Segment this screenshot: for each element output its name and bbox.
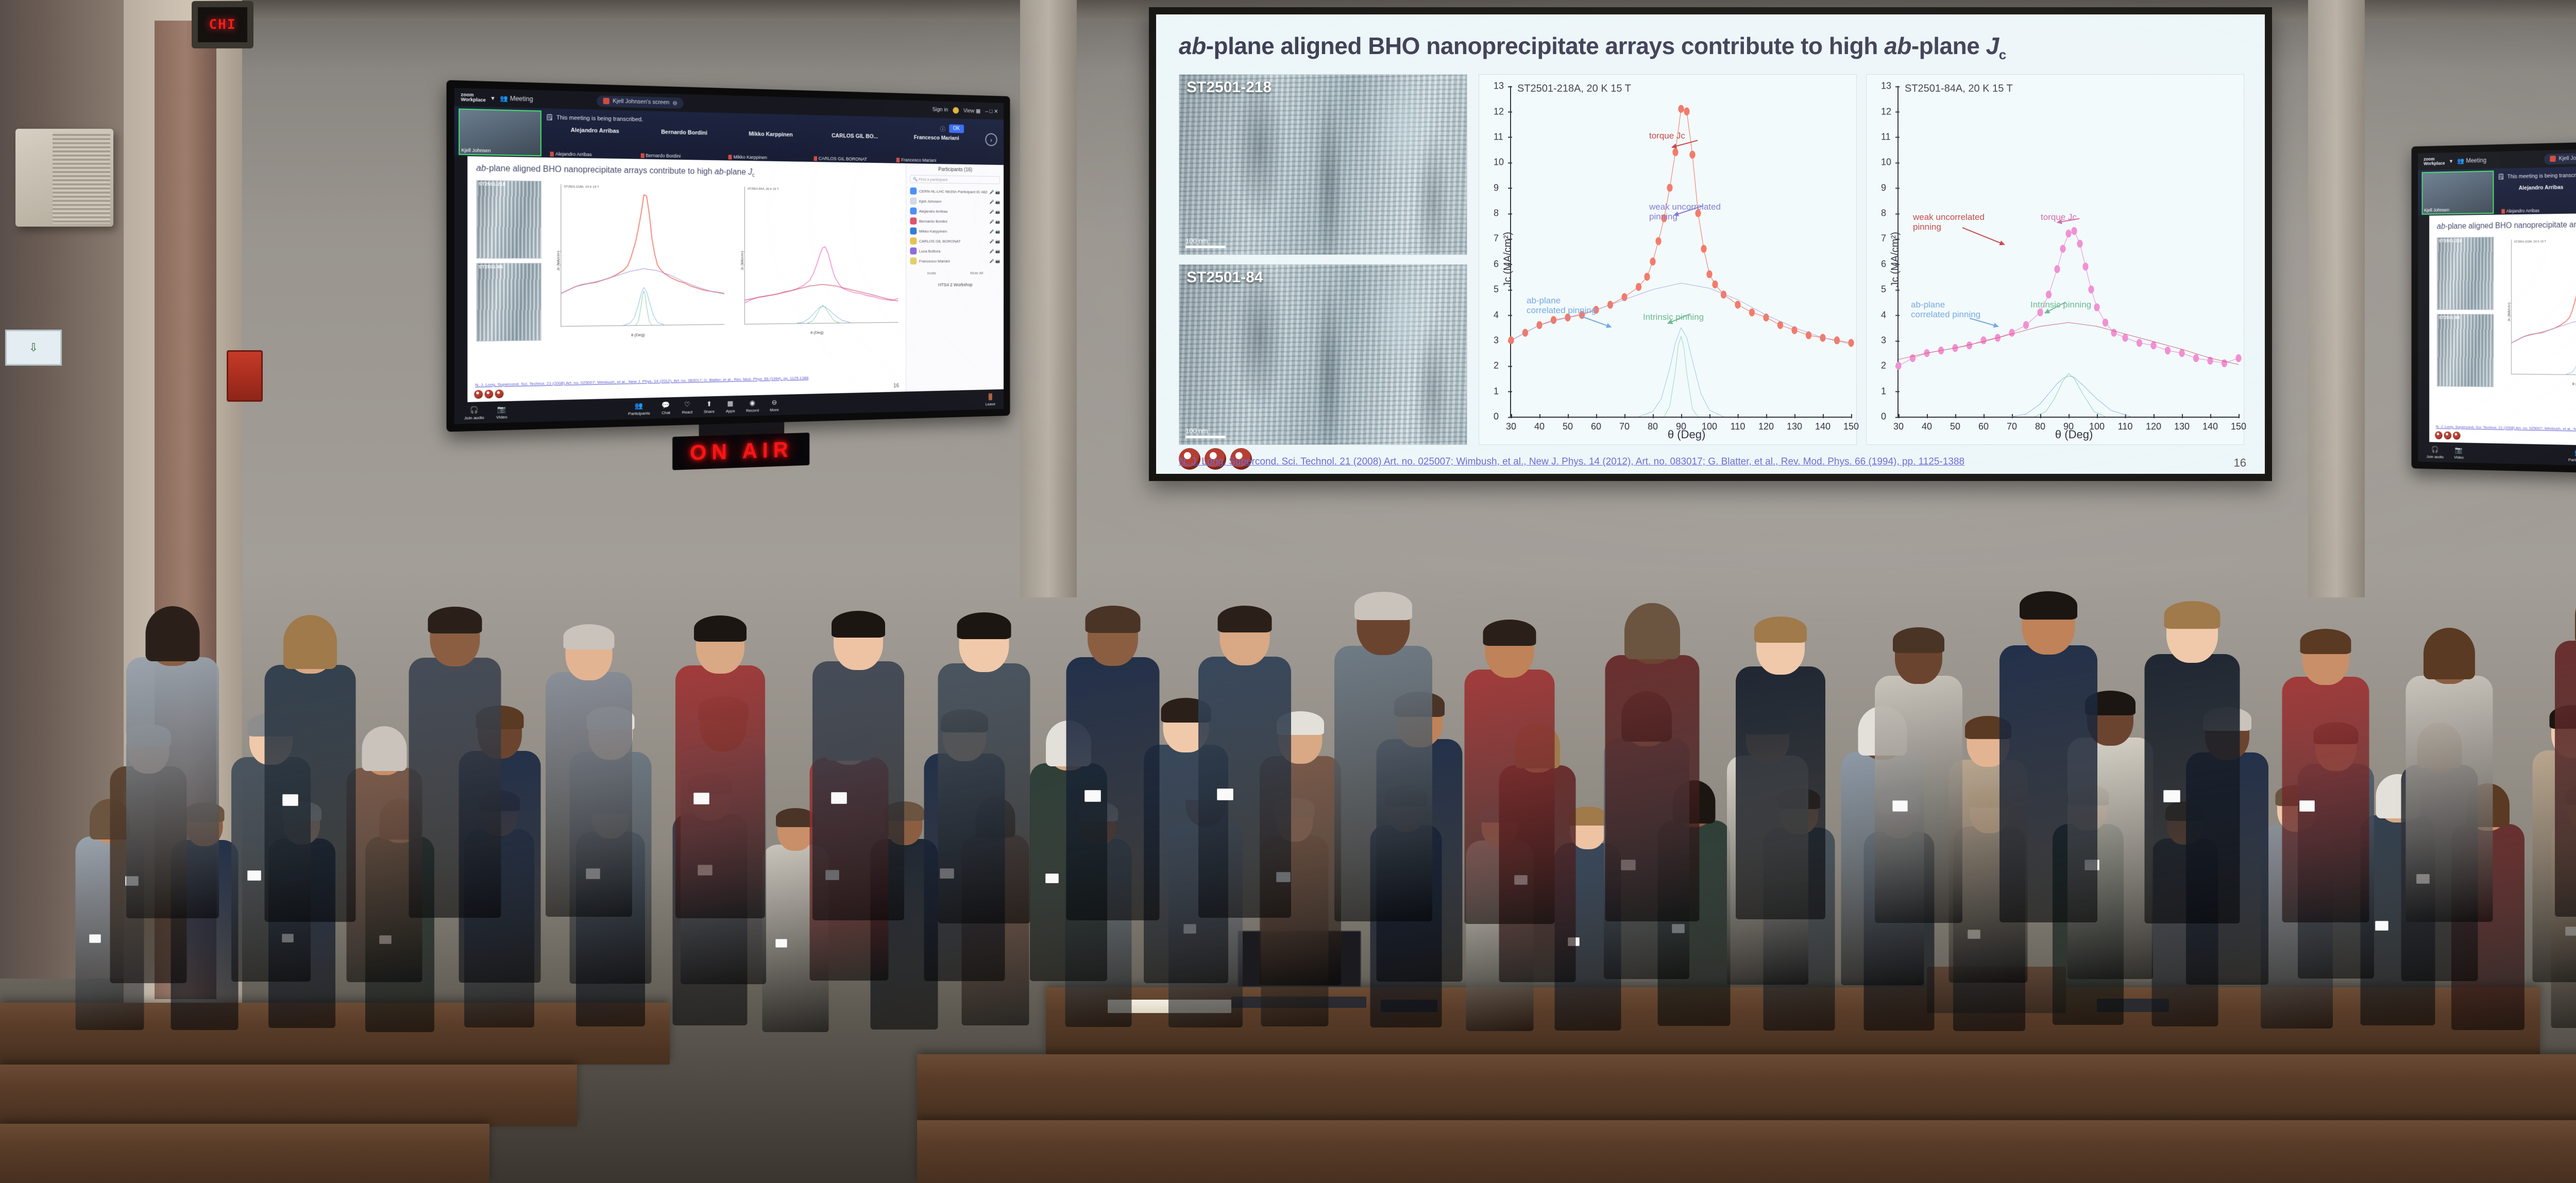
window-controls[interactable]: – □ ✕ (985, 108, 998, 114)
chart-0-note-abplane: ab-plane correlated pinning (1527, 296, 1599, 315)
meeting-menu[interactable]: 👥 Meeting (500, 94, 533, 102)
ok-button[interactable]: OK (949, 124, 964, 133)
person-hair (1218, 606, 1272, 632)
y-tick: 12 (1881, 106, 1891, 117)
series-3 (1664, 337, 1698, 417)
data-point (2077, 240, 2082, 248)
shared-chart-xlabel: θ (Deg) (2572, 382, 2576, 386)
name-badge (2299, 800, 2315, 812)
transcription-text: This meeting is being transcribed. (556, 114, 643, 123)
data-point (2137, 339, 2142, 347)
y-tick: 13 (1881, 81, 1891, 92)
person-torso (126, 657, 219, 918)
led-clock-text: CHI (209, 17, 236, 32)
x-tick: 50 (1563, 421, 1573, 432)
participant-mic-icon: 🎤 📷 (990, 259, 1000, 263)
audience-person (675, 607, 765, 918)
series-2 (2012, 376, 2131, 417)
participant-mic-icon: 🎤 📷 (990, 239, 1000, 244)
participant-list-item[interactable]: Mikko Karppinen🎤 📷 (910, 226, 999, 236)
person-torso (1334, 646, 1432, 921)
zoom-logo: zoomWorkplace (2424, 157, 2445, 166)
record-icon: ◉ (748, 399, 757, 407)
y-tick: 3 (1494, 335, 1499, 346)
x-tick: 140 (2202, 421, 2218, 432)
mic-muted-icon (814, 156, 817, 161)
y-tick: 1 (1494, 386, 1499, 397)
participant-avatar (910, 187, 917, 195)
x-tick: 80 (1648, 421, 1658, 432)
share-source-chip[interactable]: Kjell Johnsen's screen⊖ (2544, 152, 2576, 164)
participant-avatar (910, 228, 917, 235)
shared-slide-title: ab-plane aligned BHO nanoprecipitate arr… (476, 164, 900, 180)
participant-list-item[interactable]: Kjell Johnsen🎤 📷 (910, 196, 999, 207)
data-point (2111, 329, 2116, 337)
audience-person (1334, 582, 1432, 921)
view-menu[interactable]: View ▦ (963, 107, 980, 114)
shared-chart-plot (2511, 238, 2576, 376)
data-point (1701, 245, 1706, 253)
participant-strip-item: Alejandro Arribas (2501, 208, 2576, 214)
x-tick: 80 (2035, 421, 2045, 432)
participant-name-strip: Alejandro ArribasBernardo BordiniMikko K… (2501, 202, 2576, 214)
data-point (1551, 316, 1556, 324)
slide-title-ab-1: ab (1179, 32, 1206, 59)
data-point (2165, 347, 2171, 354)
tv-monitor-left: zoomWorkplace▾👥 MeetingKjell Johnsen's s… (447, 80, 1010, 432)
slide-title-mid: -plane aligned BHO nanoprecipitate array… (1206, 32, 1884, 59)
name-badge (693, 793, 709, 804)
name-badge (89, 934, 101, 943)
shared-slide-page-number: 16 (893, 383, 899, 389)
name-badge (247, 870, 261, 881)
micrograph-column: ST2501-218 100 nm ST2501-84 100 nm (1179, 74, 1467, 445)
audience-person (1875, 619, 1962, 923)
chart-st2501-218a: Jc (MA/cm²) ST2501-218A, 20 K 15 T 01234… (1479, 74, 1857, 445)
shared-chart-0: ST2501-218A, 20 K 15 TJc (MA/cm²)θ (Deg) (547, 181, 726, 340)
toolbar-react-button[interactable]: ♡React (682, 400, 692, 415)
chevron-down-icon[interactable]: ▾ (491, 94, 494, 102)
data-point (1621, 293, 1627, 301)
participant-tile-name: Mikko Karppinen (728, 130, 813, 138)
shared-micrograph-1: ST2501-84 (476, 263, 541, 342)
shared-micrograph-column: ST2501-218ST2501-84 (2437, 237, 2494, 387)
participant-list-item[interactable]: CARLOS GIL BORONAT🎤 📷 (910, 236, 999, 246)
participant-list-item[interactable]: Bernardo Bordini🎤 📷 (910, 216, 999, 226)
person-hair (694, 615, 747, 642)
person-torso (1999, 645, 2097, 922)
share-source-label: Kjell Johnsen's screen (613, 98, 669, 106)
presentation-slide: ab-plane aligned BHO nanoprecipitate arr… (1156, 14, 2265, 474)
person-torso (1464, 670, 1554, 924)
micrograph-84-scale-text: 100 nm (1185, 427, 1208, 435)
data-point (1848, 339, 1854, 347)
toolbar-chat-button[interactable]: 💬Chat (662, 401, 671, 415)
person-torso (1198, 657, 1291, 918)
mic-muted-icon (728, 155, 732, 159)
participant-name: Bernardo Bordini (919, 219, 988, 224)
x-tick: 130 (1787, 421, 1802, 432)
x-tick: 150 (2231, 421, 2246, 432)
data-point (2065, 230, 2071, 237)
person-hair (1483, 620, 1536, 646)
person-hair (1085, 606, 1140, 633)
shared-micrograph-label: ST2501-84 (2438, 315, 2460, 320)
toolbar-share-button[interactable]: ⬆Share (704, 400, 715, 414)
name-badge (1045, 873, 1059, 883)
slide-title: ab-plane aligned BHO nanoprecipitate arr… (1179, 32, 2244, 63)
transcription-notice: 🗒This meeting is being transcribed. (546, 114, 643, 123)
shared-chart-xlabel: θ (Deg) (631, 333, 645, 338)
shared-micrograph-label: ST2501-84 (479, 264, 503, 270)
y-tick: 1 (1881, 386, 1886, 397)
participants-panel: Participants (16)🔍 Find a participantCER… (906, 163, 1004, 391)
desk-row-center-3 (917, 1120, 2576, 1183)
participant-name: Mikko Karppinen (919, 229, 988, 233)
toolbar-button-label: Leave (986, 402, 995, 406)
participant-strip-item: CARLOS GIL BORONAT (814, 156, 895, 162)
participant-tile-names: Alejandro ArribasBernardo BordiniMikko K… (2501, 178, 2576, 192)
y-tick: 13 (1494, 81, 1504, 92)
audience-person (546, 616, 632, 917)
person-torso (812, 661, 904, 920)
participants-footer-button[interactable]: Mute All (970, 271, 984, 276)
data-point (2046, 290, 2052, 298)
participants-footer-button[interactable]: Invite (927, 271, 936, 276)
data-point (1910, 354, 1916, 362)
desk-row-left-2 (0, 1065, 577, 1126)
person-torso (938, 663, 1030, 923)
data-point (1667, 184, 1672, 192)
participant-tile-name: CARLOS GIL BO... (814, 132, 895, 140)
y-tick: 10 (1494, 157, 1504, 168)
toolbar-button-label: React (682, 409, 692, 415)
person-torso (2405, 676, 2493, 922)
chart-1-note-abplane: ab-plane correlated pinning (1911, 300, 1983, 319)
transcript-icon: 🗒 (2498, 174, 2504, 180)
fire-alarm-box-left (227, 350, 263, 402)
toolbar-participants-button[interactable]: 👥Participants (628, 401, 650, 416)
shared-slide-title: ab-plane aligned BHO nanoprecipitate arr… (2437, 217, 2576, 232)
data-point (1735, 301, 1740, 308)
y-tick: 8 (1881, 208, 1886, 219)
name-badge (775, 939, 787, 948)
x-tick: 70 (1619, 421, 1630, 432)
audience-person (1066, 597, 1159, 920)
data-point (2207, 357, 2213, 365)
audience-person (2282, 621, 2369, 922)
person-torso (264, 665, 355, 922)
participant-strip-name: Bernardo Bordini (646, 153, 727, 160)
participant-avatar (910, 208, 917, 215)
participant-strip-name: Alejandro Arribas (2506, 208, 2576, 214)
audience-person (1605, 594, 1699, 921)
data-point (2193, 354, 2199, 362)
share-source-icon (603, 98, 609, 105)
data-point (2054, 265, 2060, 273)
x-tick: 120 (1758, 421, 1774, 432)
participant-avatar (910, 217, 917, 225)
data-point (1706, 270, 1712, 278)
data-point (2103, 319, 2108, 327)
participant-name: CARLOS GIL BORONAT (919, 239, 988, 244)
chart-0-note-torque: torque Jc (1649, 131, 1685, 141)
transcription-notice: 🗒This meeting is being transcribed. (2498, 172, 2576, 180)
shared-chart-1: ST2501-84A, 20 K 15 TJc (MA/cm²)θ (Deg) (732, 183, 901, 338)
audience-person (1198, 597, 1291, 918)
self-video-name: Kjell Johnsen (462, 147, 491, 153)
tv-monitor-right: zoomWorkplace▾👥 MeetingKjell Johnsen's s… (2412, 133, 2576, 482)
meeting-menu[interactable]: 👥 Meeting (2458, 157, 2486, 164)
person-torso (675, 665, 765, 918)
participant-name: Alejandro Arribas (919, 209, 988, 214)
participant-mic-icon: 🎤 📷 (990, 229, 1000, 234)
shared-micrograph-0: ST2501-218 (2437, 237, 2494, 310)
x-tick: 70 (2007, 421, 2017, 432)
micrograph-84-scalebar: 100 nm (1185, 427, 1226, 438)
zoom-app-left: zoomWorkplace▾👥 MeetingKjell Johnsen's s… (454, 88, 1004, 424)
toolbar-button-label: Share (704, 409, 715, 414)
data-point (2094, 303, 2099, 311)
participant-list-item[interactable]: Luca Bottura🎤 📷 (910, 246, 999, 256)
x-tick: 140 (1815, 421, 1831, 432)
participant-avatar (910, 247, 917, 254)
x-tick: 30 (1893, 421, 1904, 432)
participant-tile-names: Alejandro ArribasBernardo BordiniMikko K… (550, 127, 976, 142)
person-hair (2424, 628, 2475, 679)
x-tick: 60 (1978, 421, 1989, 432)
y-tick: 6 (1881, 259, 1886, 269)
y-tick: 0 (1494, 412, 1499, 422)
data-point (2071, 227, 2077, 235)
participant-tile-name: Alejandro Arribas (2501, 184, 2576, 191)
micrograph-218-scale-text: 100 nm (1185, 237, 1208, 245)
wall-speaker-left (15, 129, 113, 227)
data-point (1678, 105, 1684, 113)
sign-in-link[interactable]: Sign in (933, 107, 948, 113)
audience-person (2405, 620, 2493, 922)
toolbar-button-label: Join audio (464, 415, 484, 420)
participant-strip-item: Mikko Karppinen (728, 155, 813, 161)
series-1 (1899, 322, 2239, 364)
toolbar-video-button[interactable]: 📷Video (496, 405, 507, 420)
x-tick: 150 (1843, 421, 1859, 432)
y-tick: 2 (1494, 361, 1499, 371)
participant-strip-item: Alejandro Arribas (550, 151, 640, 158)
projection-screen: ab-plane aligned BHO nanoprecipitate arr… (1149, 7, 2272, 481)
person-hair (2164, 601, 2220, 629)
participant-name: CERN HL-LHC Nb3Sn Participant ID 48200 (919, 189, 988, 194)
y-tick: 9 (1494, 182, 1499, 193)
share-source-label: Kjell Johnsen's screen (2559, 155, 2576, 162)
zoom-app-right: zoomWorkplace▾👥 MeetingKjell Johnsen's s… (2418, 141, 2576, 474)
micrograph-84-label: ST2501-84 (1187, 269, 1263, 286)
toolbar-button-label: More (770, 407, 779, 412)
data-point (1791, 327, 1797, 334)
shared-slide-view: ab-plane aligned BHO nanoprecipitate arr… (467, 156, 906, 402)
slide-title-tail: -plane (1911, 32, 1986, 59)
y-tick: 12 (1494, 106, 1504, 117)
data-point (2150, 341, 2156, 349)
camera-off-icon: 📷 (497, 405, 506, 414)
participant-mic-icon: 🎤 📷 (990, 199, 1000, 204)
audience-person (1999, 582, 2097, 922)
participant-strip-item: Francesco Mariani (896, 157, 976, 163)
participant-mic-icon: 🎤 📷 (990, 249, 1000, 253)
toolbar-more-button[interactable]: ⊖More (770, 398, 779, 412)
zoom-content-area: ab-plane aligned BHO nanoprecipitate arr… (2418, 208, 2576, 452)
desk-row-center-2 (917, 1054, 2576, 1121)
data-point (2235, 354, 2241, 362)
y-tick: 2 (1881, 361, 1886, 371)
data-point (1689, 151, 1695, 159)
participants-panel-header: Participants (16) (910, 166, 999, 173)
participant-mic-icon: 🎤 📷 (990, 190, 1000, 194)
y-tick: 5 (1494, 284, 1499, 295)
audience-person (1464, 611, 1554, 924)
apps-icon: ▦ (726, 399, 735, 407)
data-point (2222, 359, 2227, 367)
name-badge (1892, 800, 1908, 812)
y-tick: 7 (1881, 233, 1886, 244)
data-point (1749, 308, 1755, 316)
zoom-logo: zoomWorkplace (461, 92, 485, 102)
y-tick: 7 (1494, 233, 1499, 244)
x-tick: 60 (1591, 421, 1601, 432)
person-torso (1066, 657, 1159, 920)
participant-avatar (910, 237, 917, 245)
shared-micrograph-label: ST2501-218 (2438, 238, 2462, 244)
person-torso (1875, 676, 1962, 923)
slide-title-jc-sub: c (1999, 47, 2006, 62)
participant-list-item[interactable]: CERN HL-LHC Nb3Sn Participant ID 48200🎤 … (910, 186, 999, 197)
series-3 (2035, 373, 2106, 417)
exit-sign-left: ⇩ (5, 330, 62, 366)
slide-body: ST2501-218 100 nm ST2501-84 100 nm (1179, 74, 2244, 445)
chart-0-note-weak: weak uncorrelated pinning (1649, 202, 1726, 221)
y-tick: 9 (1881, 182, 1886, 193)
person-hair (1754, 616, 1807, 643)
y-tick: 11 (1494, 131, 1503, 142)
toolbar-button-label: Apps (726, 408, 735, 413)
person-torso (2282, 677, 2369, 922)
data-point (2082, 263, 2088, 270)
participants-panel-footer: InviteMute All (910, 271, 999, 276)
y-tick: 11 (1881, 131, 1891, 142)
leave-icon: 🚪 (986, 392, 994, 401)
y-tick: 4 (1494, 310, 1499, 320)
x-tick: 40 (1534, 421, 1545, 432)
toolbar-button-label: Record (746, 408, 759, 413)
mic-muted-icon (640, 153, 644, 158)
person-hair (283, 615, 337, 669)
toolbar-apps-button[interactable]: ▦Apps (726, 399, 735, 414)
data-point (2179, 349, 2184, 357)
person-torso (2144, 654, 2240, 923)
data-point (1806, 331, 1811, 339)
shared-micrograph-column: ST2501-218ST2501-84 (476, 180, 541, 342)
participant-strip-name: Francesco Mariani (901, 157, 976, 163)
data-point (1712, 281, 1718, 288)
x-tick: 30 (1506, 421, 1516, 432)
y-tick: 3 (1881, 335, 1886, 346)
y-tick: 8 (1494, 208, 1499, 219)
person-hair (146, 606, 200, 661)
audience-person (126, 597, 219, 918)
desk-row-left-3 (0, 1124, 489, 1183)
slide-title-jc: J (1986, 32, 1999, 59)
next-page-icon[interactable]: › (985, 133, 997, 146)
people-icon: 👥 (634, 401, 643, 410)
x-tick: 40 (1922, 421, 1932, 432)
participant-list-item[interactable]: Francesco Mariani🎤 📷 (910, 256, 999, 266)
x-tick: 50 (1950, 421, 1960, 432)
minimize-icon[interactable]: ⊖ (672, 99, 677, 106)
person-hair (1624, 603, 1680, 659)
slide-title-ab-2: ab (1884, 32, 1911, 59)
data-point (1684, 108, 1689, 115)
shared-chart-plot (744, 186, 899, 324)
data-point (2088, 286, 2094, 294)
shared-slide-row: ST2501-218ST2501-84ST2501-218A, 20 K 15 … (2437, 233, 2576, 391)
micrograph-84: ST2501-84 100 nm (1179, 264, 1467, 445)
name-badge (1084, 790, 1101, 802)
name-badge (831, 792, 847, 804)
shared-slide-footnote: N. J. Long, Supercond. Sci. Technol. 21 … (475, 373, 887, 388)
x-tick: 120 (2146, 421, 2161, 432)
share-source-chip[interactable]: Kjell Johnsen's screen⊖ (597, 95, 684, 109)
share-screen-icon: ⬆ (705, 400, 714, 408)
person-hair (564, 624, 615, 649)
chat-icon: 💬 (662, 401, 671, 409)
data-point (1655, 237, 1661, 245)
toolbar-join-audio-button[interactable]: 🎧Join audio (464, 405, 484, 420)
person-hair (1354, 592, 1412, 620)
person-hair (1893, 627, 1944, 653)
name-badge (2375, 921, 2388, 931)
shared-chart-xlabel: θ (Deg) (810, 330, 823, 335)
audience-person (812, 602, 904, 920)
toolbar-button-label: Video (496, 414, 507, 419)
person-torso (1736, 666, 1825, 919)
data-point (1980, 336, 1986, 344)
audience-person (409, 598, 501, 918)
headset-icon: 🎧 (469, 405, 479, 414)
info-icon[interactable]: ⓘ (940, 125, 945, 133)
toolbar-record-button[interactable]: ◉Record (746, 399, 759, 413)
led-clock-display: CHI (192, 1, 253, 48)
person-hair (957, 612, 1011, 639)
x-tick: 110 (1731, 421, 1745, 432)
shared-slide-row: ST2501-218ST2501-84ST2501-218A, 20 K 15 … (476, 180, 900, 342)
zoom-toolbar-end: 🚪Leave (986, 392, 995, 406)
x-tick: 110 (2118, 421, 2133, 432)
data-point (2009, 329, 2014, 337)
chevron-down-icon[interactable]: ▾ (2450, 158, 2453, 165)
person-hair (2020, 591, 2077, 620)
participant-list-item[interactable]: Alejandro Arribas🎤 📷 (910, 206, 999, 217)
participant-strip-name: CARLOS GIL BORONAT (819, 156, 895, 162)
participants-search-input[interactable]: 🔍 Find a participant (910, 175, 999, 184)
toolbar-leave-button[interactable]: 🚪Leave (986, 392, 995, 406)
series-2 (1639, 328, 1724, 417)
share-source-icon (2550, 156, 2556, 162)
x-tick: 130 (2174, 421, 2190, 432)
micrograph-218-label: ST2501-218 (1187, 79, 1272, 96)
transcription-text: This meeting is being transcribed. (2507, 172, 2576, 180)
y-tick: 6 (1494, 259, 1499, 269)
participant-avatar (910, 258, 917, 265)
